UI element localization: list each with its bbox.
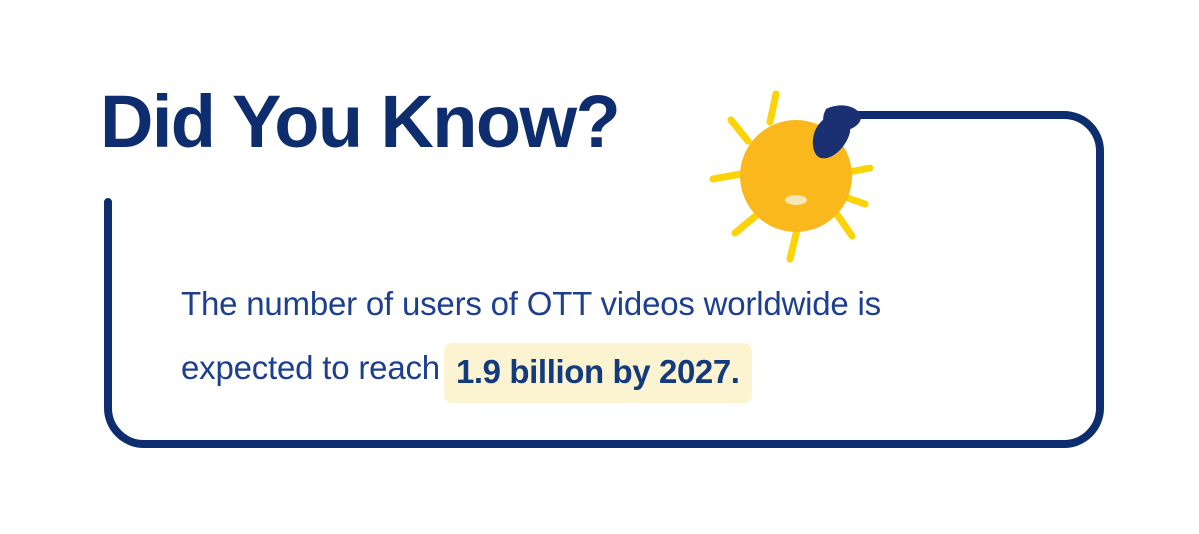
lightbulb-cap-neck xyxy=(823,105,861,132)
fact-text-prefix: expected to reach xyxy=(181,349,440,386)
highlighted-statistic: 1.9 billion by 2027. xyxy=(444,343,752,403)
fact-text: The number of users of OTT videos worldw… xyxy=(181,272,941,403)
lightbulb-icon xyxy=(700,78,920,278)
page-title: Did You Know? xyxy=(100,79,619,165)
fact-card: Did You Know? The number of users of OTT… xyxy=(0,0,1199,534)
lightbulb-highlight xyxy=(785,195,807,205)
fact-text-line-2: expected to reach1.9 billion by 2027. xyxy=(181,336,941,403)
fact-text-line-1: The number of users of OTT videos worldw… xyxy=(181,272,941,336)
